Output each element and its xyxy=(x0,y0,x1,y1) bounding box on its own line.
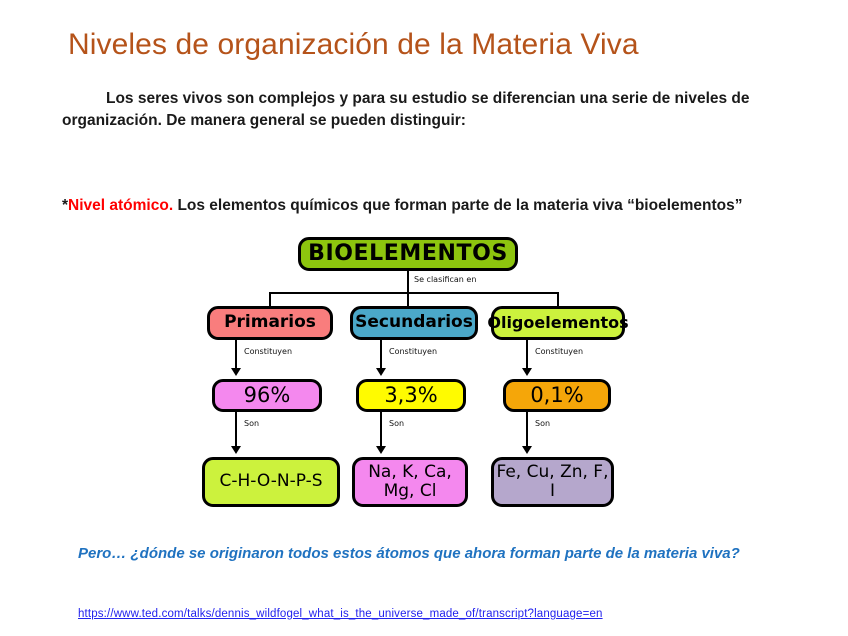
diagram-node-primarios: Primarios xyxy=(207,306,333,340)
question-text: Pero… ¿dónde se originaron todos estos á… xyxy=(78,543,798,565)
connector-label-son-primarios: Son xyxy=(244,419,259,428)
diagram-node-percent-oligoelementos: 0,1% xyxy=(503,379,611,412)
connector-root-stub xyxy=(407,271,409,293)
connector-drop-secundarios xyxy=(407,292,409,306)
connector-label-constituyen-oligoelementos: Constituyen xyxy=(535,347,583,356)
connector-pct-to-elements-primarios xyxy=(235,412,237,448)
connector-label-constituyen-primarios: Constituyen xyxy=(244,347,292,356)
diagram-node-oligoelementos: Oligoelementos xyxy=(491,306,625,340)
connector-pct-to-elements-oligoelementos xyxy=(526,412,528,448)
diagram-node-bioelementos: BIOELEMENTOS xyxy=(298,237,518,271)
diagram-node-percent-primarios: 96% xyxy=(212,379,322,412)
arrowhead-secundarios-to-pct xyxy=(376,368,386,376)
diagram-node-elements-secundarios: Na, K, Ca, Mg, Cl xyxy=(352,457,468,507)
ted-talk-link[interactable]: https://www.ted.com/talks/dennis_wildfog… xyxy=(78,608,603,620)
page-title: Niveles de organización de la Materia Vi… xyxy=(68,28,639,62)
connector-primarios-to-pct xyxy=(235,340,237,370)
atomic-level-text: Los elementos químicos que forman parte … xyxy=(173,197,742,214)
connector-label-se-clasifican-en: Se clasifican en xyxy=(414,275,476,284)
bioelements-diagram: BIOELEMENTOS Se clasifican en Primarios … xyxy=(190,235,650,527)
connector-pct-to-elements-secundarios xyxy=(380,412,382,448)
arrowhead-primarios-to-pct xyxy=(231,368,241,376)
arrowhead-pct-to-elements-secundarios xyxy=(376,446,386,454)
connector-label-constituyen-secundarios: Constituyen xyxy=(389,347,437,356)
atomic-level-paragraph: *Nivel atómico. Los elementos químicos q… xyxy=(62,194,772,217)
arrowhead-oligoelementos-to-pct xyxy=(522,368,532,376)
arrowhead-pct-to-elements-oligoelementos xyxy=(522,446,532,454)
connector-drop-oligoelementos xyxy=(557,292,559,306)
connector-drop-primarios xyxy=(269,292,271,306)
connector-oligoelementos-to-pct xyxy=(526,340,528,370)
slide-canvas: Niveles de organización de la Materia Vi… xyxy=(0,0,848,636)
diagram-node-percent-secundarios: 3,3% xyxy=(356,379,466,412)
diagram-node-elements-oligoelementos: Fe, Cu, Zn, F, I xyxy=(491,457,614,507)
connector-label-son-oligoelementos: Son xyxy=(535,419,550,428)
arrowhead-pct-to-elements-primarios xyxy=(231,446,241,454)
atomic-level-label: Nivel atómico. xyxy=(68,197,173,214)
diagram-node-secundarios: Secundarios xyxy=(350,306,478,340)
diagram-node-elements-primarios: C-H-O-N-P-S xyxy=(202,457,340,507)
intro-paragraph: Los seres vivos son complejos y para su … xyxy=(62,88,762,133)
connector-secundarios-to-pct xyxy=(380,340,382,370)
connector-branch-bar xyxy=(269,292,559,294)
connector-label-son-secundarios: Son xyxy=(389,419,404,428)
